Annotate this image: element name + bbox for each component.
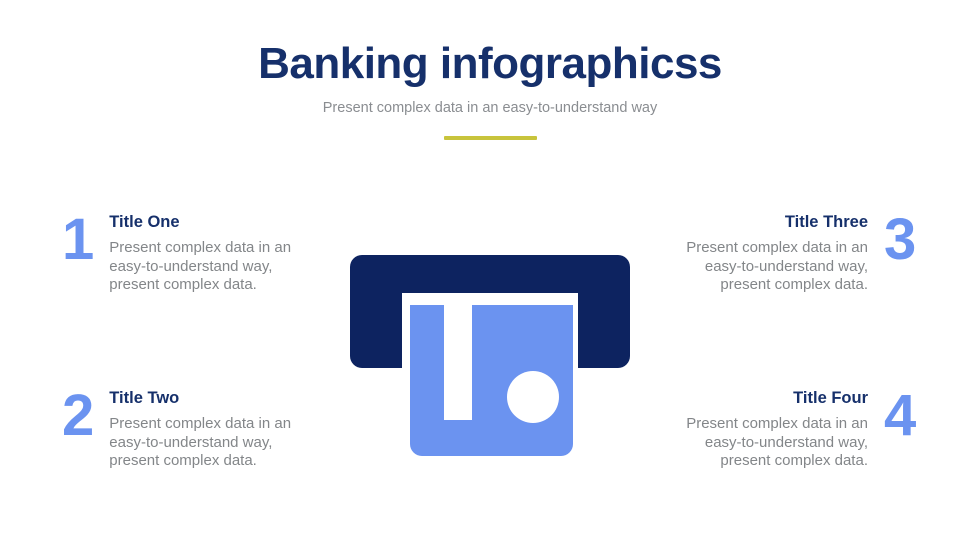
info-item-title: Title Four	[668, 388, 868, 408]
info-item-title: Title Two	[109, 388, 309, 408]
info-item-3: 3 Title Three Present complex data in an…	[668, 212, 915, 295]
infographic-slide: Banking infographicss Present complex da…	[0, 0, 980, 551]
title-accent-divider	[444, 136, 537, 140]
info-item-text: Title Three Present complex data in an e…	[668, 212, 868, 295]
page-title: Banking infographicss	[0, 38, 980, 90]
info-item-text: Title Two Present complex data in an eas…	[109, 388, 309, 471]
info-item-number: 2	[62, 388, 93, 444]
info-item-title: Title One	[109, 212, 309, 232]
page-subtitle: Present complex data in an easy-to-under…	[0, 98, 980, 118]
info-item-number: 1	[62, 212, 93, 268]
info-item-title: Title Three	[668, 212, 868, 232]
info-item-description: Present complex data in an easy-to-under…	[109, 239, 309, 295]
info-item-4: 4 Title Four Present complex data in an …	[668, 388, 915, 471]
info-item-number: 3	[884, 212, 915, 268]
info-item-description: Present complex data in an easy-to-under…	[668, 239, 868, 295]
info-item-text: Title One Present complex data in an eas…	[109, 212, 309, 295]
info-item-1: 1 Title One Present complex data in an e…	[62, 212, 309, 295]
slide-header: Banking infographicss Present complex da…	[0, 38, 980, 140]
info-item-2: 2 Title Two Present complex data in an e…	[62, 388, 309, 471]
info-item-text: Title Four Present complex data in an ea…	[668, 388, 868, 471]
info-item-number: 4	[884, 388, 915, 444]
atm-chip-circle	[507, 371, 559, 423]
info-item-description: Present complex data in an easy-to-under…	[668, 415, 868, 471]
info-item-description: Present complex data in an easy-to-under…	[109, 415, 309, 471]
atm-card-slot-icon	[350, 248, 630, 464]
